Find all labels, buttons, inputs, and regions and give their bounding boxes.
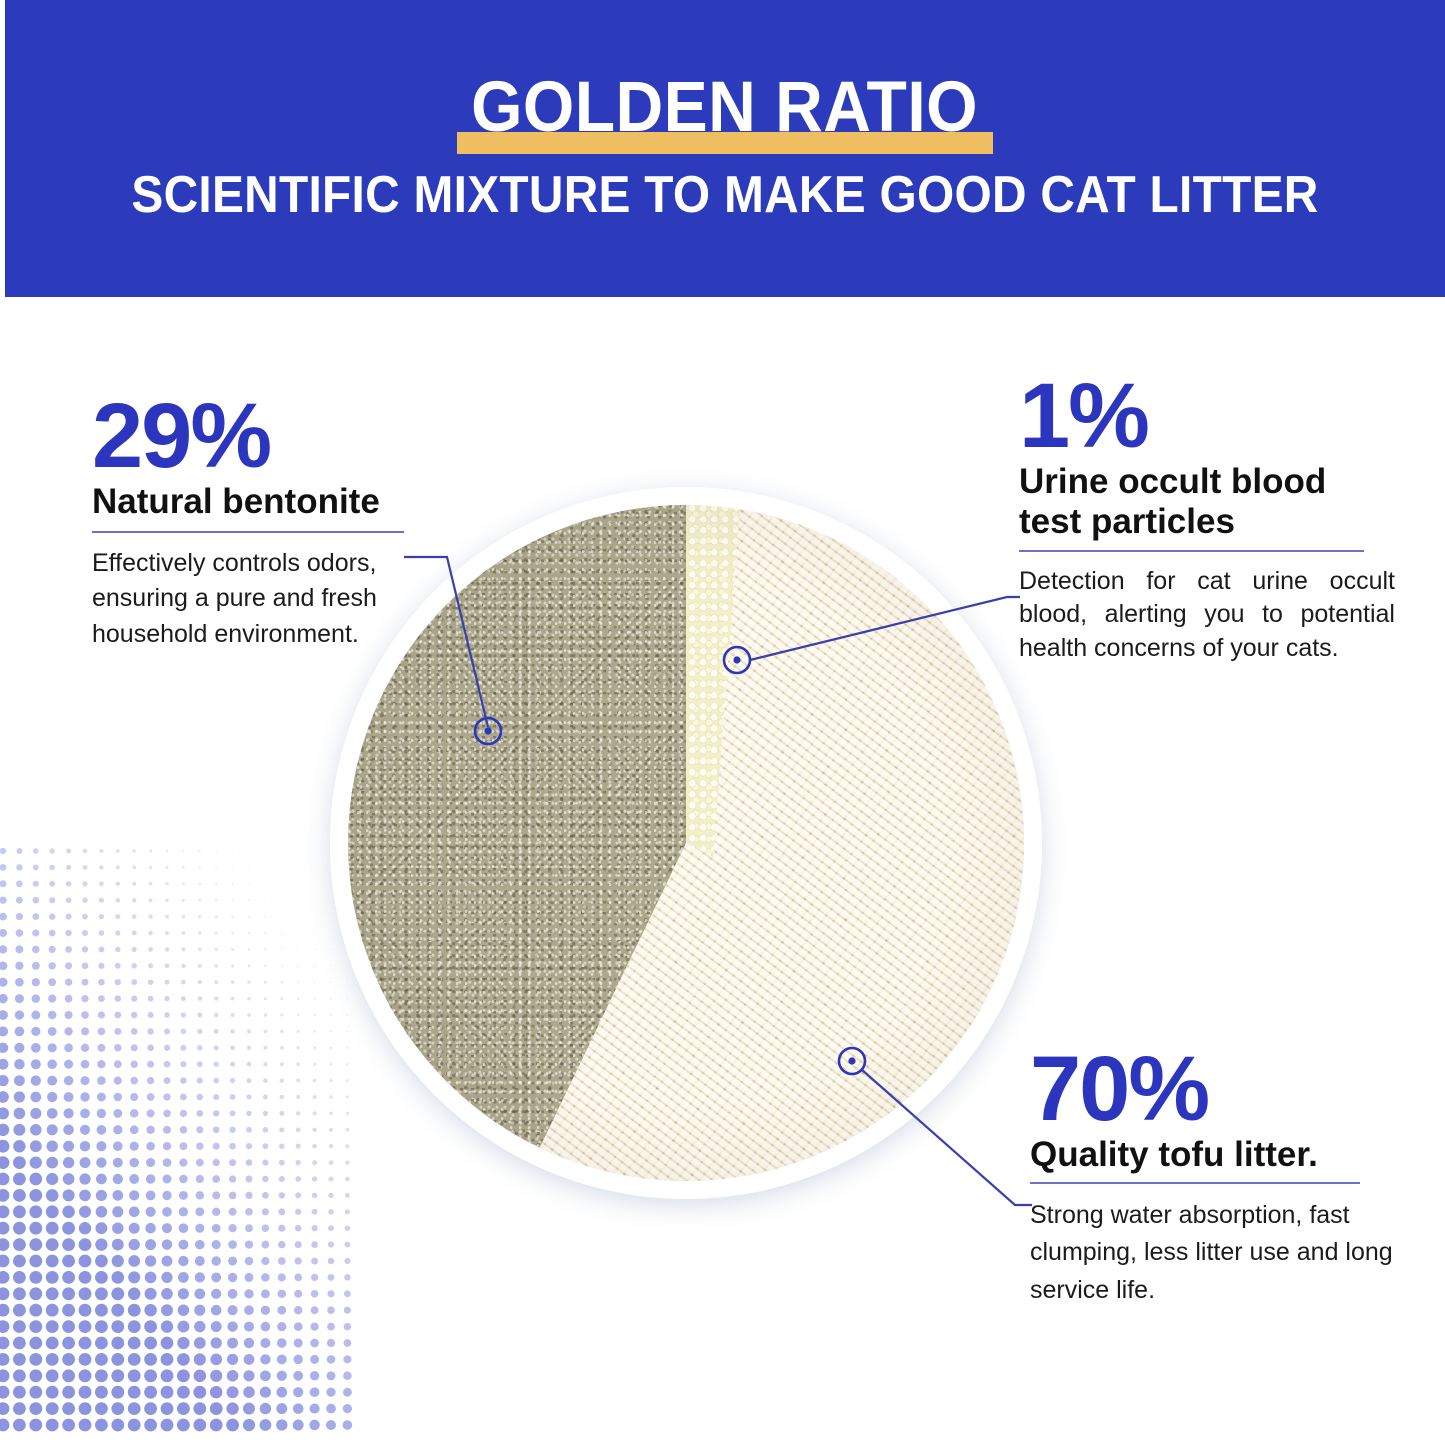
bentonite-title: Natural bentonite	[92, 482, 422, 521]
halftone-dot-decoration	[0, 845, 360, 1445]
callout-bentonite: 29% Natural bentonite Effectively contro…	[92, 392, 422, 652]
callout-tofu: 70% Quality tofu litter. Strong water ab…	[1030, 1045, 1398, 1309]
tofu-body: Strong water absorption, fast clumping, …	[1030, 1197, 1398, 1310]
bentonite-rule	[92, 531, 404, 533]
pie-chart-image	[348, 505, 1024, 1181]
title-wrap: GOLDEN RATIO	[5, 72, 1445, 143]
tofu-rule	[1030, 1182, 1360, 1184]
header-banner: GOLDEN RATIO SCIENTIFIC MIXTURE TO MAKE …	[5, 0, 1445, 297]
test-particles-title: Urine occult blood test particles	[1019, 462, 1395, 540]
tofu-title: Quality tofu litter.	[1030, 1135, 1398, 1174]
bentonite-body: Effectively controls odors, ensuring a p…	[92, 546, 422, 653]
test-particles-percent: 1%	[1019, 372, 1395, 460]
test-particles-body: Detection for cat urine occult blood, al…	[1019, 565, 1395, 666]
page-subtitle: SCIENTIFIC MIXTURE TO MAKE GOOD CAT LITT…	[63, 168, 1388, 223]
page-title: GOLDEN RATIO	[466, 72, 984, 143]
callout-test-particles: 1% Urine occult blood test particles Det…	[1019, 372, 1395, 665]
bentonite-percent: 29%	[92, 392, 422, 480]
litter-mix-pie-figure	[330, 487, 1042, 1199]
test-particles-rule	[1019, 550, 1364, 552]
tofu-percent: 70%	[1030, 1045, 1398, 1133]
